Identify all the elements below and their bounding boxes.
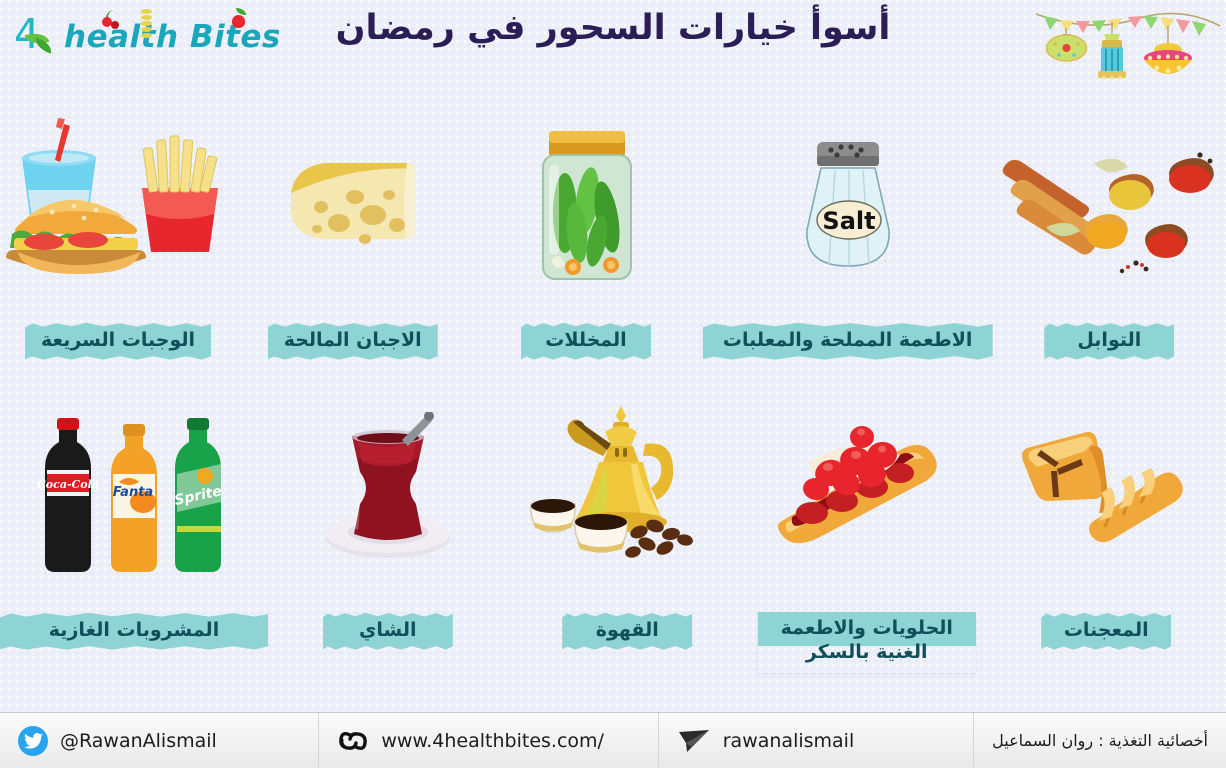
coca-cola-label: Coca-Cola [37, 478, 99, 491]
item-label-sweets-line2: الغنية بالسكر [806, 641, 928, 663]
item-spices[interactable]: التوابل [993, 96, 1226, 378]
items-row-1: الوجبات السريعة [0, 96, 1226, 378]
website-url: www.4healthbites.com/ [381, 730, 604, 752]
label-slot: الشاي [268, 612, 508, 668]
infographic-page: 4 health Bites أسوأ خيارات السحور في رمض… [0, 0, 1226, 768]
items-grid: الوجبات السريعة [0, 96, 1226, 668]
item-salty-cheese[interactable]: الاجبان المالحة [236, 96, 469, 378]
paper-plane-icon[interactable] [677, 728, 711, 754]
spices-spoons-icon [993, 96, 1226, 322]
item-soft-drinks[interactable]: Coca-Cola Fanta [0, 378, 268, 668]
item-label-coffee: القهوة [562, 612, 692, 651]
label-slot: المعجنات [987, 612, 1226, 668]
label-slot: المشروبات الغازية [0, 612, 268, 668]
footer-twitter[interactable]: @RawanAlismail [0, 713, 319, 768]
items-row-2: Coca-Cola Fanta [0, 378, 1226, 668]
fanta-label: Fanta [113, 485, 153, 500]
credit-text: أخصائية التغذية : روان السماعيل [992, 731, 1208, 750]
salt-shaker-icon: Salt [703, 96, 993, 322]
fruit-tart-icon [747, 378, 987, 612]
item-salted-canned[interactable]: Salt الاطعمة المملحة والمعلبات [703, 96, 993, 378]
footer-website[interactable]: www.4healthbites.com/ [319, 713, 658, 768]
item-pastries[interactable]: المعجنات [987, 378, 1226, 668]
page-footer: @RawanAlismail www.4healthbites.com/ [0, 712, 1226, 768]
label-slot: الاطعمة المملحة والمعلبات [703, 322, 993, 378]
item-fast-food[interactable]: الوجبات السريعة [0, 96, 236, 378]
chain-link-icon[interactable] [337, 726, 369, 756]
pastries-icon [987, 378, 1226, 612]
item-label-tea: الشاي [323, 612, 453, 651]
pickle-jar-icon [469, 96, 702, 322]
cheese-wedge-icon [236, 96, 469, 322]
label-slot: التوابل [993, 322, 1226, 378]
twitter-bird-icon[interactable] [18, 726, 48, 756]
item-label-salted-canned: الاطعمة المملحة والمعلبات [703, 322, 993, 361]
tea-glass-icon [268, 378, 508, 612]
item-label-pastries: المعجنات [1041, 612, 1171, 651]
item-pickles[interactable]: المخللات [469, 96, 702, 378]
label-slot: القهوة [508, 612, 748, 668]
twitter-handle: @RawanAlismail [60, 730, 217, 752]
item-label-salty-cheese: الاجبان المالحة [268, 322, 438, 361]
ramadan-lanterns-icon [1032, 0, 1222, 88]
item-label-fast-food: الوجبات السريعة [25, 322, 211, 361]
telegram-handle: rawanalismail [723, 730, 855, 752]
label-slot: الحلويات والاطعمة الغنية بالسكر [747, 612, 987, 668]
label-slot: المخللات [469, 322, 702, 378]
item-label-soft-drinks: المشروبات الغازية [0, 612, 268, 651]
soda-bottles-icon: Coca-Cola Fanta [0, 378, 268, 612]
item-label-pickles: المخللات [521, 322, 651, 361]
label-slot: الاجبان المالحة [236, 322, 469, 378]
item-label-sweets-line1: الحلويات والاطعمة [781, 617, 953, 639]
item-sweets[interactable]: الحلويات والاطعمة الغنية بالسكر [747, 378, 987, 668]
label-slot: الوجبات السريعة [0, 322, 236, 378]
page-header: 4 health Bites أسوأ خيارات السحور في رمض… [0, 0, 1226, 92]
footer-credit: أخصائية التغذية : روان السماعيل [974, 713, 1226, 768]
item-label-spices: التوابل [1044, 322, 1174, 361]
arabic-coffee-pot-icon [508, 378, 748, 612]
item-label-sweets: الحلويات والاطعمة الغنية بالسكر [758, 612, 976, 673]
item-tea[interactable]: الشاي [268, 378, 508, 668]
item-coffee[interactable]: القهوة [508, 378, 748, 668]
fast-food-combo-icon [0, 96, 236, 322]
salt-label: Salt [822, 207, 875, 235]
footer-telegram[interactable]: rawanalismail [659, 713, 974, 768]
